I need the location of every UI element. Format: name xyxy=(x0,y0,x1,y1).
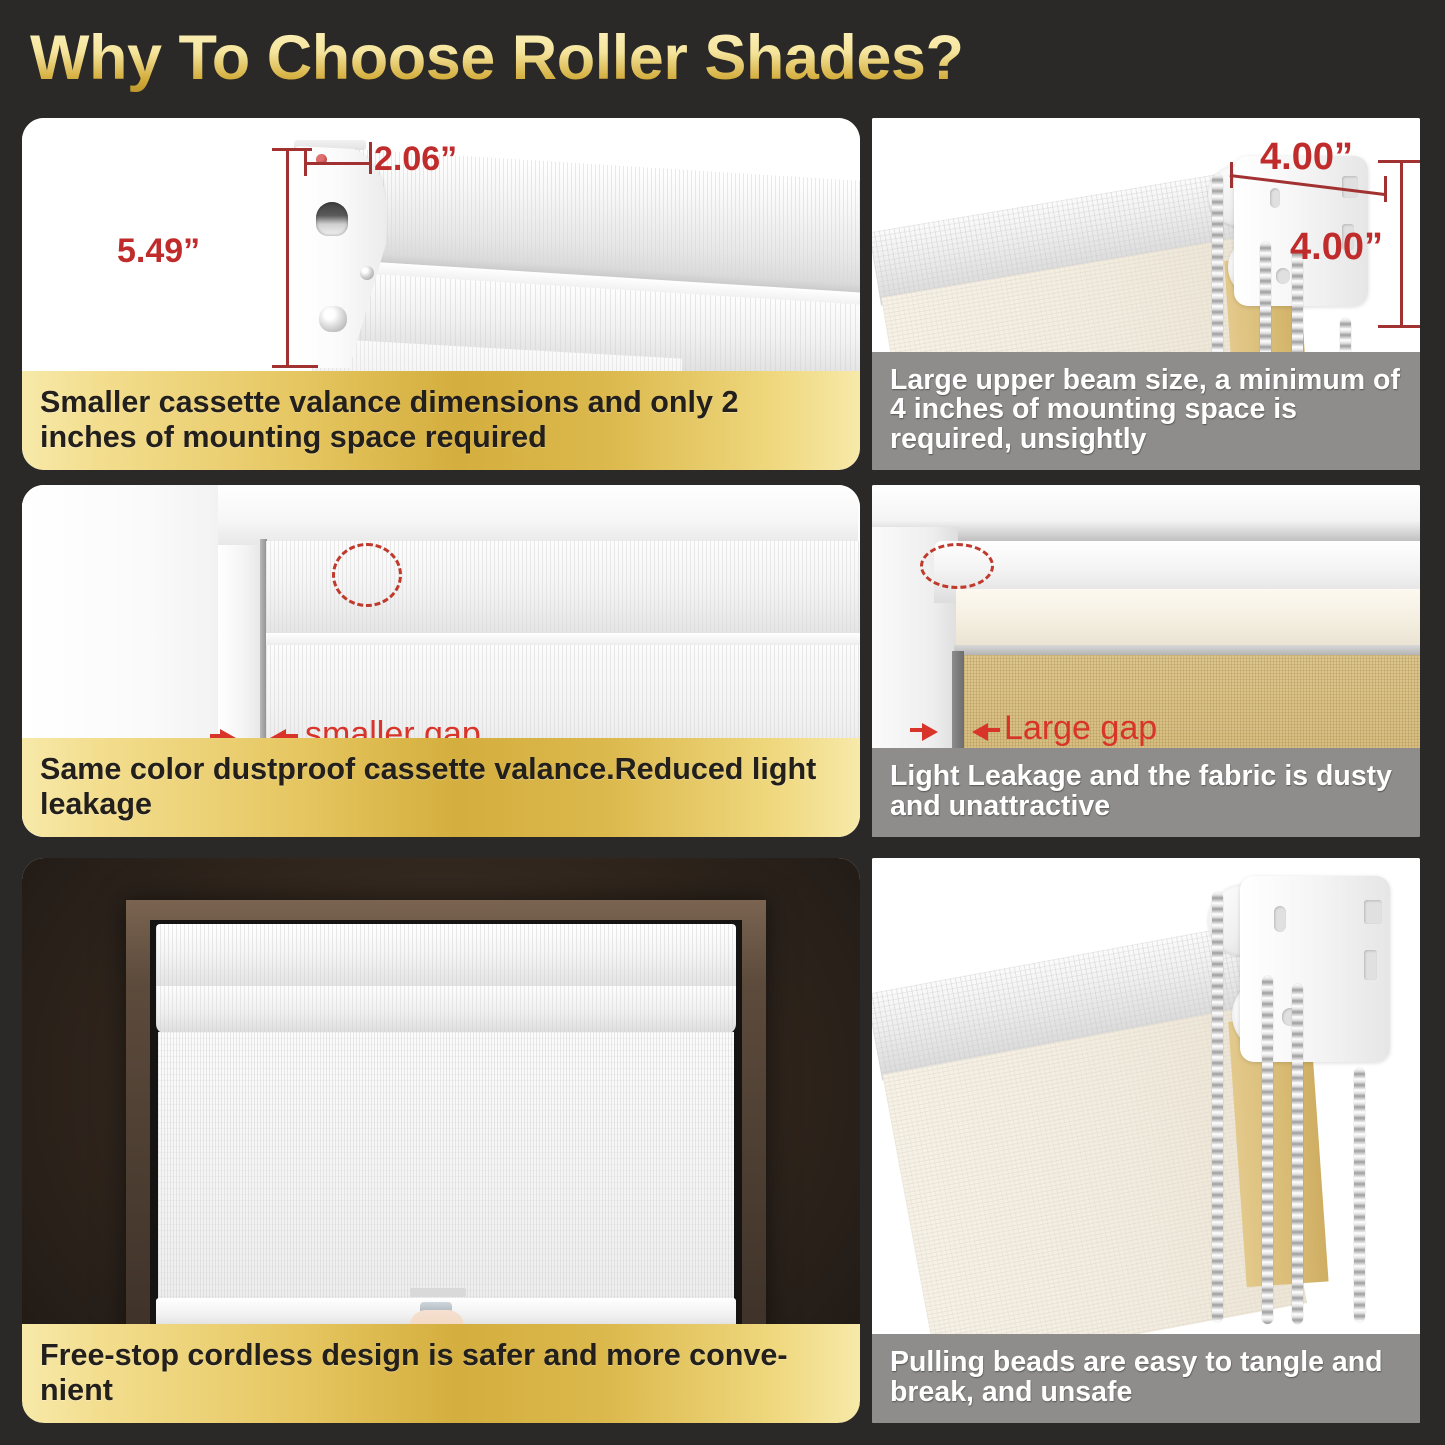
bracket-key-upper xyxy=(1270,188,1280,208)
panel-caption: Light Leakage and the fabric is dusty an… xyxy=(872,748,1420,837)
shade-fabric xyxy=(158,1032,734,1328)
dim-beam-height-line xyxy=(1400,160,1403,328)
dim-beam-height-tick-top xyxy=(1378,160,1420,163)
bracket-notch-bottom xyxy=(1364,950,1377,980)
dim-beam-height-tick-bottom xyxy=(1378,325,1420,328)
panel-smaller-cassette: 2.06” 5.49” Smaller cassette valance dim… xyxy=(22,118,860,470)
shade-brand-tag xyxy=(410,1288,466,1297)
cassette-valance-photo: 2.06” 5.49” xyxy=(22,118,860,386)
panel-caption: Pulling beads are easy to tangle and bre… xyxy=(872,1334,1420,1423)
beam-rail xyxy=(954,645,1420,655)
bracket-key-upper xyxy=(1274,906,1286,932)
dim-beam-width-tick-left xyxy=(1230,162,1233,188)
panel-caption: Free-stop cordless design is safer and m… xyxy=(22,1324,860,1423)
shade-cassette-front xyxy=(156,986,736,1034)
gap-arrow-right-stem xyxy=(986,728,1000,732)
dim-height-line xyxy=(286,148,289,368)
bead-chain-far-right[interactable] xyxy=(1354,1068,1365,1322)
window-trim-top xyxy=(218,485,858,545)
panel-dustproof-valance: smaller gap Same color dustproof cassett… xyxy=(22,485,860,837)
bead-chain-right[interactable] xyxy=(1292,984,1303,1324)
shade-cassette xyxy=(156,924,736,990)
panel-pulling-beads: Pulling beads are easy to tangle and bre… xyxy=(872,858,1420,1423)
dim-height-tick-top xyxy=(272,148,312,151)
valance-screw-upper xyxy=(360,266,374,280)
bracket-notch-top xyxy=(1342,176,1358,198)
bead-chain-middle[interactable] xyxy=(1262,976,1273,1324)
dim-height-tick-bottom xyxy=(272,365,318,368)
bracket-notch-top xyxy=(1364,900,1382,924)
gap-arrow-right-icon xyxy=(972,723,988,741)
dim-width-tick-right xyxy=(369,142,372,174)
panel-light-leakage: Large gap Light Leakage and the fabric i… xyxy=(872,485,1420,837)
beam-front-face xyxy=(956,589,1420,649)
gap-arrow-left-stem xyxy=(910,728,924,732)
panel-large-upper-beam: 4.00” 4.00” Large upper beam size, a min… xyxy=(872,118,1420,470)
gap-arrow-left-icon xyxy=(922,723,938,741)
bead-chain-left[interactable] xyxy=(1212,892,1223,1322)
valance-screw-lower xyxy=(319,306,347,332)
dim-width-tick-left xyxy=(304,151,307,176)
infographic-root: Why To Choose Roller Shades? 2.06” xyxy=(0,0,1445,1445)
gap-highlight-circle xyxy=(920,543,994,589)
dim-beam-width-label: 4.00” xyxy=(1260,136,1353,179)
dim-width-label: 2.06” xyxy=(374,140,457,179)
panel-grid: 2.06” 5.49” Smaller cassette valance dim… xyxy=(0,0,1445,1445)
dim-height-label: 5.49” xyxy=(117,232,200,271)
dim-beam-width-tick-right xyxy=(1384,176,1387,202)
panel-caption: Smaller cassette valance dimensions and … xyxy=(22,371,860,470)
valance-bracket-slot xyxy=(316,202,348,236)
panel-caption: Large upper beam size, a minimum of 4 in… xyxy=(872,352,1420,470)
panel-caption: Same color dustproof cassette valance.Re… xyxy=(22,738,860,837)
gap-highlight-circle xyxy=(332,543,402,607)
dim-width-line xyxy=(304,162,372,165)
bracket-key-lower xyxy=(1276,268,1290,284)
gap-callout-label: Large gap xyxy=(1004,709,1157,748)
panel-free-stop-cordless: Free-stop cordless design is safer and m… xyxy=(22,858,860,1423)
dim-beam-height-label: 4.00” xyxy=(1290,226,1383,269)
